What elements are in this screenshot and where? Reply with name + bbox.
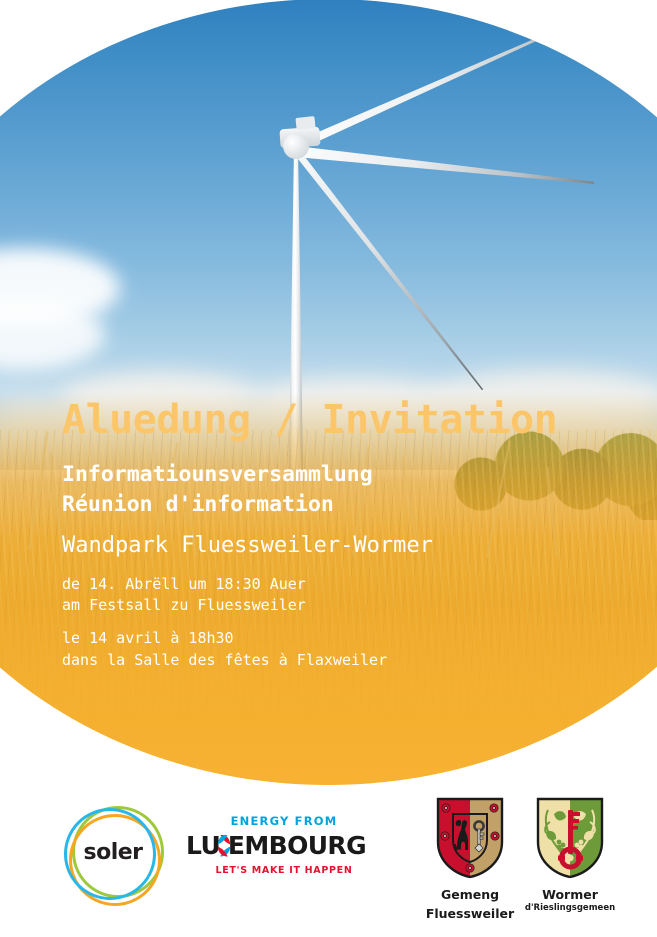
detail-lb-venue: am Festsall zu Fluessweiler — [62, 595, 642, 616]
fluessweiler-label-line1: Gemeng — [424, 888, 516, 903]
project-name: Wandpark Fluessweiler-Wormer — [62, 531, 642, 562]
detail-fr-venue: dans la Salle des fêtes à Flaxweiler — [62, 650, 642, 671]
page-title: Aluedung / Invitation — [62, 398, 642, 443]
wormer-label-line2: d'Rieslingsgemeen — [520, 903, 620, 913]
subtitle-french: Réunion d'information — [62, 490, 642, 521]
turbine-anemometer — [295, 116, 315, 130]
lux-tagline: LET'S MAKE IT HAPPEN — [204, 865, 364, 876]
subtitle-luxembourgish: Informatiounsversammlung — [62, 460, 642, 491]
lux-energy-from-label: ENERGY FROM — [204, 814, 364, 828]
fluessweiler-coat-of-arms — [435, 796, 505, 880]
logo-bar: soler ENERGY FROM LU EMBOURG LET'S MAKE … — [0, 792, 657, 937]
fluessweiler-logo: Gemeng Fluessweiler — [424, 796, 516, 931]
fluessweiler-label-line2: Fluessweiler — [424, 907, 516, 922]
lux-word-lu: LU — [186, 831, 220, 860]
lux-wordmark: LU EMBOURG — [186, 831, 366, 860]
turbine-hub — [283, 133, 309, 159]
luxembourg-x-petal-icon — [220, 834, 228, 858]
wormer-label-line1: Wormer — [520, 888, 620, 903]
soler-wordmark: soler — [58, 840, 168, 865]
lux-word-embourg: EMBOURG — [228, 831, 366, 860]
wormer-coat-of-arms — [534, 796, 606, 880]
soler-logo: soler — [58, 802, 178, 907]
energy-from-luxembourg-logo: ENERGY FROM LU EMBOURG LET'S MAKE IT HAP… — [186, 814, 366, 894]
invitation-poster: Aluedung / Invitation Informatiounsversa… — [0, 0, 657, 937]
wormer-logo: Wormer d'Rieslingsgemeen — [520, 796, 620, 931]
detail-lb-date: de 14. Abrëll um 18:30 Auer — [62, 574, 642, 595]
invitation-text-block: Aluedung / Invitation Informatiounsversa… — [62, 398, 642, 671]
detail-fr-date: le 14 avril à 18h30 — [62, 628, 642, 649]
